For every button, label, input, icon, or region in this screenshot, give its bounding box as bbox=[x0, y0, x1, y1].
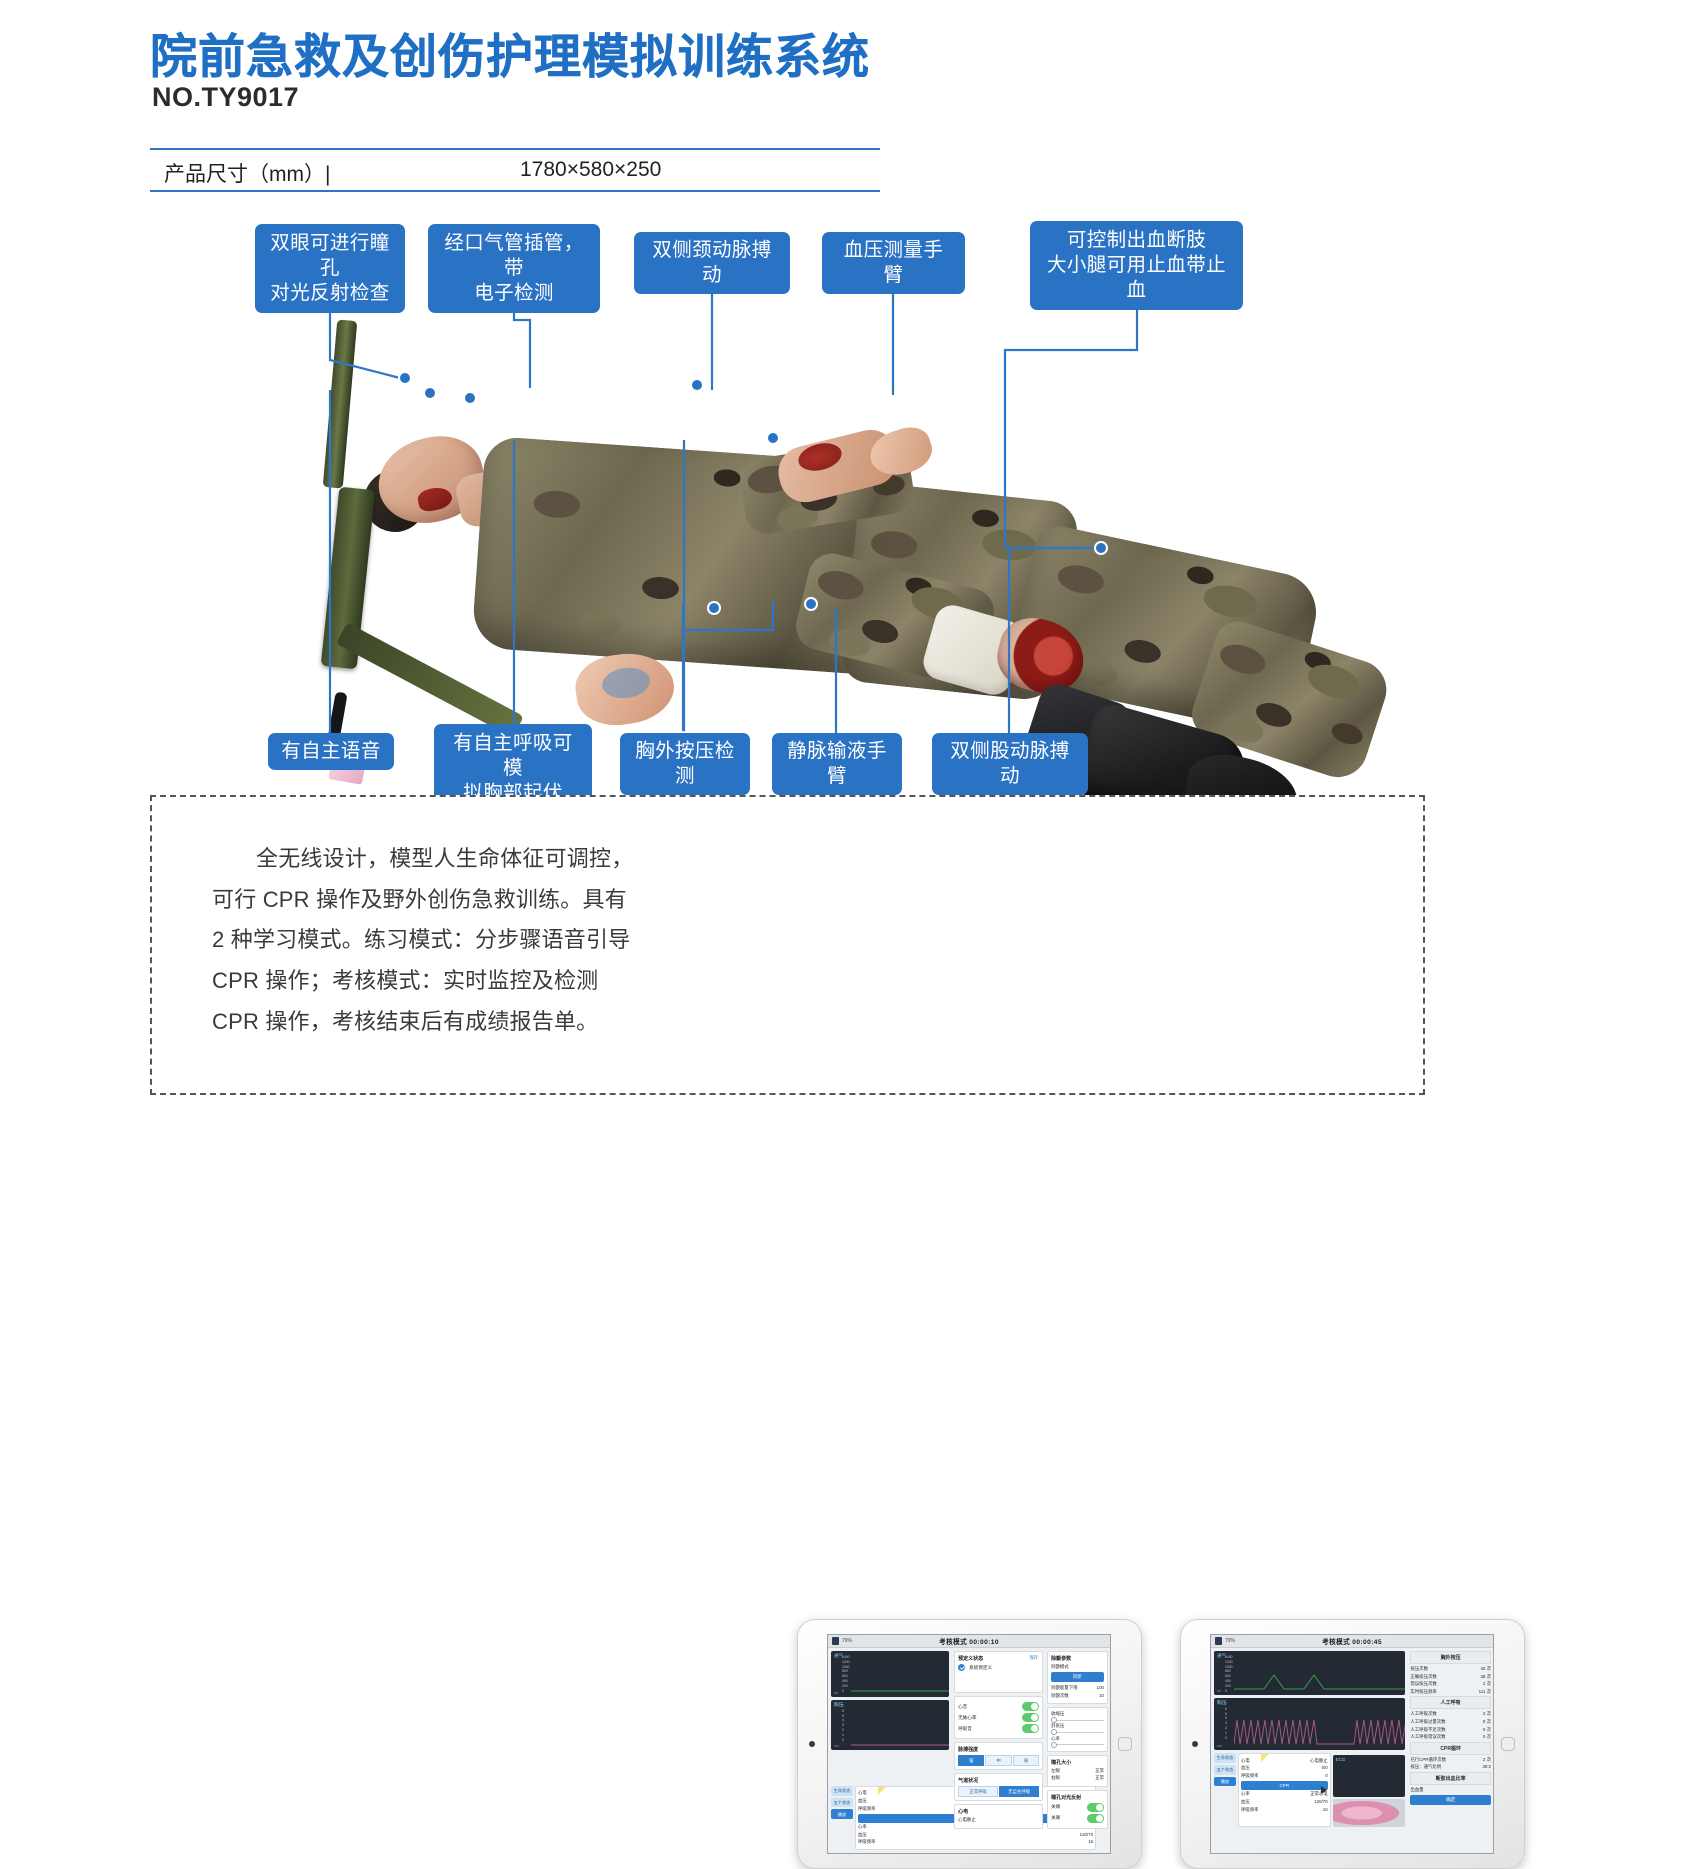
alert-triangle-icon bbox=[1261, 1754, 1269, 1762]
chest-row-0-val: 40 bbox=[1480, 1666, 1485, 1671]
heart-rate-slider[interactable] bbox=[1051, 1744, 1104, 1745]
cycle-row-0-unit: 次 bbox=[1487, 1757, 1491, 1762]
heart-rate-label: 心率 bbox=[1051, 1736, 1104, 1742]
ventilation-unit: ml bbox=[834, 1691, 838, 1695]
kv-ecg-key: 心电 bbox=[1241, 1758, 1250, 1764]
chest-row-2-unit: 次 bbox=[1487, 1681, 1491, 1686]
tab-playback[interactable]: 播放 bbox=[831, 1809, 853, 1819]
kv2-bp-val: 120/70 bbox=[1314, 1799, 1327, 1805]
defib-energy-value: 100 bbox=[1097, 1685, 1104, 1691]
mode-title: 考核模式 00:00:45 bbox=[1211, 1636, 1493, 1646]
defib-title: 除颤参数 bbox=[1051, 1655, 1104, 1662]
bleeding-section-title: 断肢出血比率 bbox=[1410, 1772, 1491, 1785]
callout-iv-infusion-arm[interactable]: 静脉输液手臂 bbox=[772, 733, 902, 795]
predefined-state-card[interactable]: 预定义状态 保存 系统预定义 bbox=[954, 1651, 1043, 1693]
check-icon[interactable] bbox=[958, 1664, 965, 1671]
breath-row-3-unit: 次 bbox=[1487, 1734, 1491, 1739]
chest-pressure-scale: 7 6 5 4 3 2 1 0 bbox=[1225, 1702, 1227, 1741]
pulse-option-strong[interactable]: 强 bbox=[958, 1755, 984, 1766]
pupil-size-card[interactable]: 瞳孔大小 左眼正常 右眼正常 bbox=[1047, 1755, 1108, 1787]
mode-title: 考核模式 00:00:10 bbox=[828, 1636, 1110, 1646]
save-button[interactable]: 保存 bbox=[1029, 1655, 1038, 1661]
light-reflex-left-label: 关联 bbox=[1051, 1804, 1060, 1810]
chest-row-0-unit: 次 bbox=[1487, 1666, 1491, 1671]
tablet-assessment-mode[interactable]: 79% 考核模式 00:00:45 通气 1400 1200 1000 800 … bbox=[1180, 1619, 1525, 1869]
light-reflex-right-label: 关联 bbox=[1051, 1815, 1060, 1821]
callout-bp-arm[interactable]: 血压测量手臂 bbox=[822, 232, 965, 294]
pupil-right-value[interactable]: 正常 bbox=[1095, 1775, 1104, 1781]
ecg-value: 心电静止 bbox=[958, 1817, 976, 1823]
defib-mode-label: 除颤模式 bbox=[1051, 1664, 1104, 1670]
ecg-monitor: ECG bbox=[1333, 1755, 1406, 1797]
kv-ecg-val: 心电静止 bbox=[1310, 1758, 1328, 1764]
tablet-camera-icon bbox=[809, 1741, 815, 1747]
pulse-strength-title: 脉搏强度 bbox=[958, 1746, 1039, 1753]
breath-row-0-key: 人工呼吸次数 bbox=[1410, 1711, 1436, 1717]
marker-chest bbox=[768, 433, 778, 443]
pupil-left-label: 左眼 bbox=[1051, 1768, 1060, 1774]
ventilation-scale: 1400 1200 1000 800 600 400 200 0 bbox=[1225, 1655, 1233, 1694]
hand-photo bbox=[1333, 1799, 1406, 1827]
chest-row-3-val: 111 bbox=[1479, 1689, 1486, 1694]
chest-compression-section-title: 胸外按压 bbox=[1410, 1651, 1491, 1664]
breath-row-1-val: 0 bbox=[1483, 1719, 1485, 1724]
defib-energy-label: 除颤能量下限 bbox=[1051, 1685, 1077, 1691]
kv2-rr-key: 呼吸频率 bbox=[1241, 1807, 1259, 1813]
marker-bp-arm bbox=[692, 380, 702, 390]
pupil-size-title: 瞳孔大小 bbox=[1051, 1759, 1104, 1766]
breath-row-1-unit: 次 bbox=[1487, 1719, 1491, 1724]
systolic-label: 收缩压 bbox=[1051, 1711, 1104, 1717]
tablet-1-left-column: 通气 1400 1200 1000 800 600 400 200 0 ml 胸… bbox=[828, 1648, 952, 1853]
kv-rr-key: 呼吸频率 bbox=[858, 1806, 876, 1812]
pulse-option-weak[interactable]: 弱 bbox=[1013, 1755, 1039, 1766]
state-tab-group[interactable]: 生命状态 五个状态 播放 bbox=[1214, 1753, 1236, 1827]
tablet-2-left-column: 通气 1400 1200 1000 800 600 400 200 0 ml 胸… bbox=[1211, 1648, 1408, 1853]
ventilation-trace bbox=[851, 1677, 949, 1693]
cpr-cycle-section-title: CPR循环 bbox=[1410, 1742, 1491, 1755]
pupil-left-value[interactable]: 正常 bbox=[1095, 1768, 1104, 1774]
alert-triangle-icon bbox=[878, 1787, 886, 1795]
spec-table: 产品尺寸（mm）| 1780×580×250 bbox=[150, 148, 880, 192]
ecg-title: 心电 bbox=[958, 1808, 1039, 1815]
sound-toggles-card[interactable]: 心音 无脉心率 呼吸音 bbox=[954, 1696, 1043, 1739]
cpr-button[interactable]: CPR bbox=[1241, 1781, 1328, 1790]
bleed-row-0-key: 出血量 bbox=[1410, 1787, 1423, 1793]
cycle-row-0-val: 2 bbox=[1483, 1757, 1485, 1762]
model-number: NO.TY9017 bbox=[152, 82, 299, 113]
pupil-right-label: 右眼 bbox=[1051, 1775, 1060, 1781]
toggle-heart-sound-label: 心音 bbox=[958, 1704, 967, 1710]
ventilation-trace bbox=[1234, 1669, 1405, 1691]
kv2-rr-val: 16 bbox=[1323, 1807, 1328, 1813]
airway-segmented[interactable]: 正常呼吸 无自主呼吸 bbox=[958, 1786, 1039, 1797]
callout-chest-compression[interactable]: 胸外按压检测 bbox=[620, 733, 750, 795]
chest-pressure-unit: cm bbox=[1217, 1744, 1222, 1748]
chest-row-2-val: 2 bbox=[1483, 1681, 1485, 1686]
defib-count-value: 10 bbox=[1099, 1693, 1104, 1699]
ventilation-scale: 1400 1200 1000 800 600 400 200 0 bbox=[842, 1655, 850, 1694]
bp-hr-sliders-card[interactable]: 收缩压 舒张压 心率 bbox=[1047, 1707, 1108, 1752]
chest-pressure-waveform: 胸压 7 6 5 4 3 2 1 0 cm bbox=[831, 1700, 949, 1750]
tablet-1-middle-column[interactable]: 预定义状态 保存 系统预定义 心音 无脉心率 呼吸音 脉搏强度 bbox=[952, 1648, 1045, 1853]
tablet-1-right-column[interactable]: 除颤参数 除颤模式 同步 除颤能量下限100 除颤次数10 收缩压 舒张压 心率 bbox=[1045, 1648, 1110, 1853]
airway-status-title: 气道状况 bbox=[958, 1777, 1039, 1784]
light-reflex-title: 瞳孔对光反射 bbox=[1051, 1794, 1104, 1801]
tab-five-states[interactable]: 五个状态 bbox=[1214, 1765, 1236, 1775]
spec-rule-bottom bbox=[150, 190, 880, 192]
breath-row-0-unit: 次 bbox=[1487, 1711, 1491, 1716]
kv2-bp-val: 120/70 bbox=[1080, 1832, 1093, 1838]
kv-bp-val: 0/0 bbox=[1322, 1765, 1328, 1771]
kv-bp-key: 血压 bbox=[858, 1798, 867, 1804]
breath-row-2-key: 人工呼吸不足次数 bbox=[1410, 1727, 1445, 1733]
light-reflex-right-toggle[interactable] bbox=[1087, 1814, 1104, 1823]
kv2-hr-key: 心率 bbox=[1241, 1791, 1250, 1797]
ventilation-waveform: 通气 1400 1200 1000 800 600 400 200 0 ml bbox=[1214, 1651, 1405, 1695]
chest-row-1-unit: 次 bbox=[1487, 1674, 1491, 1679]
cycle-row-1-val: 30:2 bbox=[1482, 1764, 1491, 1770]
tab-five-states[interactable]: 五个状态 bbox=[831, 1798, 853, 1808]
chest-row-3-unit: 次 bbox=[1487, 1689, 1491, 1694]
vitals-readout: 心电心电静止 血压0/0 呼吸频率0 CPR 心率正常心电 血压120/70 呼… bbox=[1238, 1753, 1331, 1827]
defib-mode-button[interactable]: 同步 bbox=[1051, 1672, 1104, 1682]
confirm-button[interactable]: 确定 bbox=[1410, 1795, 1491, 1805]
airway-option-apnea[interactable]: 无自主呼吸 bbox=[999, 1786, 1039, 1797]
chest-row-0-key: 按压次数 bbox=[1410, 1666, 1428, 1672]
chest-row-2-key: 错误按压次数 bbox=[1410, 1681, 1436, 1687]
callout-femoral-pulse[interactable]: 双侧股动脉搏动 bbox=[932, 733, 1088, 795]
kv2-hr-key: 心率 bbox=[858, 1824, 867, 1830]
spec-value: 1780×580×250 bbox=[520, 158, 661, 182]
chest-pressure-scale: 7 6 5 4 3 2 1 0 bbox=[842, 1704, 844, 1743]
tablet-practice-mode[interactable]: 79% 考核模式 00:00:10 通气 1400 1200 1000 800 … bbox=[797, 1619, 1142, 1869]
ecg-card[interactable]: 心电 心电静止 bbox=[954, 1804, 1043, 1829]
tablet-home-button[interactable] bbox=[1118, 1737, 1132, 1751]
kv2-bp-key: 血压 bbox=[1241, 1799, 1250, 1805]
spec-rule-top bbox=[150, 148, 880, 150]
systolic-slider[interactable] bbox=[1051, 1720, 1104, 1721]
tablet-1-statusbar: 79% 考核模式 00:00:10 bbox=[828, 1635, 1110, 1648]
pulse-strength-card[interactable]: 脉搏强度 强 中 弱 bbox=[954, 1742, 1043, 1770]
tablet-2-screen[interactable]: 79% 考核模式 00:00:45 通气 1400 1200 1000 800 … bbox=[1210, 1634, 1494, 1854]
tab-life-state[interactable]: 生命状态 bbox=[831, 1786, 853, 1796]
toggle-pulseless-label: 无脉心率 bbox=[958, 1715, 976, 1721]
defibrillation-card[interactable]: 除颤参数 除颤模式 同步 除颤能量下限100 除颤次数10 bbox=[1047, 1651, 1108, 1704]
tablet-home-button[interactable] bbox=[1501, 1737, 1515, 1751]
light-reflex-left-toggle[interactable] bbox=[1087, 1803, 1104, 1812]
defib-count-label: 除颤次数 bbox=[1051, 1693, 1069, 1699]
toggle-pulseless[interactable] bbox=[1022, 1713, 1039, 1722]
callout-bleeding-amputation[interactable]: 可控制出血断肢 大小腿可用止血带止血 bbox=[1030, 221, 1243, 310]
marker-airway bbox=[425, 388, 435, 398]
predefined-state-title: 预定义状态 bbox=[958, 1655, 1039, 1662]
description-panel: 全无线设计，模型人生命体征可调控，可行 CPR 操作及野外创伤急救训练。具有 2… bbox=[150, 795, 1425, 1095]
chest-row-3-key: 实时按压频率 bbox=[1410, 1689, 1436, 1695]
ecg-label: ECG bbox=[1336, 1757, 1346, 1762]
play-icon[interactable] bbox=[1321, 1786, 1327, 1794]
marker-pupil bbox=[400, 373, 410, 383]
ventilation-unit: ml bbox=[1217, 1689, 1221, 1693]
kv-rr-key: 呼吸频率 bbox=[1241, 1773, 1259, 1779]
tab-playback[interactable]: 播放 bbox=[1214, 1777, 1236, 1787]
page-title: 院前急救及创伤护理模拟训练系统 bbox=[150, 18, 870, 87]
breath-row-3-val: 0 bbox=[1483, 1734, 1485, 1739]
cycle-row-0-key: 已行CPR循环次数 bbox=[1410, 1757, 1446, 1763]
marker-femoral bbox=[709, 603, 719, 613]
chest-pressure-waveform: 胸压 7 6 5 4 3 2 1 0 cm bbox=[1214, 1698, 1405, 1750]
ventilation-waveform: 通气 1400 1200 1000 800 600 400 200 0 ml bbox=[831, 1651, 949, 1697]
kv-ecg-key: 心电 bbox=[858, 1790, 867, 1796]
breath-row-1-key: 人工呼吸过量次数 bbox=[1410, 1719, 1445, 1725]
state-tab-group[interactable]: 生命状态 五个状态 播放 bbox=[831, 1786, 853, 1850]
toggle-heart-sound[interactable] bbox=[1022, 1702, 1039, 1711]
tab-life-state[interactable]: 生命状态 bbox=[1214, 1753, 1236, 1763]
callout-carotid-pulse[interactable]: 双侧颈动脉搏动 bbox=[634, 232, 790, 294]
callout-oral-intubation[interactable]: 经口气管插管，带 电子检测 bbox=[428, 224, 600, 313]
chest-pressure-trace bbox=[1234, 1716, 1405, 1746]
product-diagram: 双眼可进行瞳孔 对光反射检查 经口气管插管，带 电子检测 双侧颈动脉搏动 血压测… bbox=[0, 200, 1700, 800]
marker-carotid bbox=[465, 393, 475, 403]
marker-iv-arm bbox=[806, 599, 816, 609]
chest-pressure-unit: cm bbox=[834, 1744, 839, 1748]
airway-option-normal[interactable]: 正常呼吸 bbox=[958, 1786, 998, 1797]
chest-row-1-val: 38 bbox=[1480, 1674, 1485, 1679]
kv2-rr-key: 呼吸频率 bbox=[858, 1839, 876, 1845]
diastolic-label: 舒张压 bbox=[1051, 1723, 1104, 1729]
chest-pressure-trace bbox=[851, 1730, 949, 1746]
breath-row-0-val: 2 bbox=[1483, 1711, 1485, 1716]
cycle-row-1-key: 按压：通气比例 bbox=[1410, 1764, 1441, 1770]
pulse-strength-segmented[interactable]: 强 中 弱 bbox=[958, 1755, 1039, 1766]
toggle-breath-sound[interactable] bbox=[1022, 1724, 1039, 1733]
toggle-breath-sound-label: 呼吸音 bbox=[958, 1726, 972, 1732]
callout-spontaneous-voice[interactable]: 有自主语音 bbox=[268, 733, 394, 770]
kv2-rr-val: 16 bbox=[1088, 1839, 1093, 1845]
description-text: 全无线设计，模型人生命体征可调控，可行 CPR 操作及野外创伤急救训练。具有 2… bbox=[212, 839, 642, 1042]
chest-row-1-key: 正确按压次数 bbox=[1410, 1674, 1436, 1680]
predefined-state-option[interactable]: 系统预定义 bbox=[969, 1665, 992, 1671]
airway-status-card[interactable]: 气道状况 正常呼吸 无自主呼吸 bbox=[954, 1773, 1043, 1801]
diastolic-slider[interactable] bbox=[1051, 1732, 1104, 1733]
breath-row-2-unit: 次 bbox=[1487, 1727, 1491, 1732]
tablet-1-screen[interactable]: 79% 考核模式 00:00:10 通气 1400 1200 1000 800 … bbox=[827, 1634, 1111, 1854]
kv-rr-val: 0 bbox=[1325, 1773, 1327, 1779]
kv-bp-key: 血压 bbox=[1241, 1765, 1250, 1771]
tablet-2-statusbar: 79% 考核模式 00:00:45 bbox=[1211, 1635, 1493, 1648]
light-reflex-card[interactable]: 瞳孔对光反射 关联 关联 bbox=[1047, 1790, 1108, 1829]
marker-amputation bbox=[1096, 543, 1106, 553]
breath-row-3-key: 人工呼吸错误次数 bbox=[1410, 1734, 1445, 1740]
breath-section-title: 人工呼吸 bbox=[1410, 1696, 1491, 1709]
spec-label: 产品尺寸（mm）| bbox=[164, 158, 330, 188]
tablet-2-report-column: 胸外按压 按压次数40 次 正确按压次数38 次 错误按压次数2 次 实时按压频… bbox=[1408, 1648, 1493, 1853]
callout-pupil-light-reflex[interactable]: 双眼可进行瞳孔 对光反射检查 bbox=[255, 224, 405, 313]
breath-row-2-val: 0 bbox=[1483, 1727, 1485, 1732]
tablet-camera-icon bbox=[1192, 1741, 1198, 1747]
kv2-bp-key: 血压 bbox=[858, 1832, 867, 1838]
pulse-option-medium[interactable]: 中 bbox=[985, 1755, 1011, 1766]
